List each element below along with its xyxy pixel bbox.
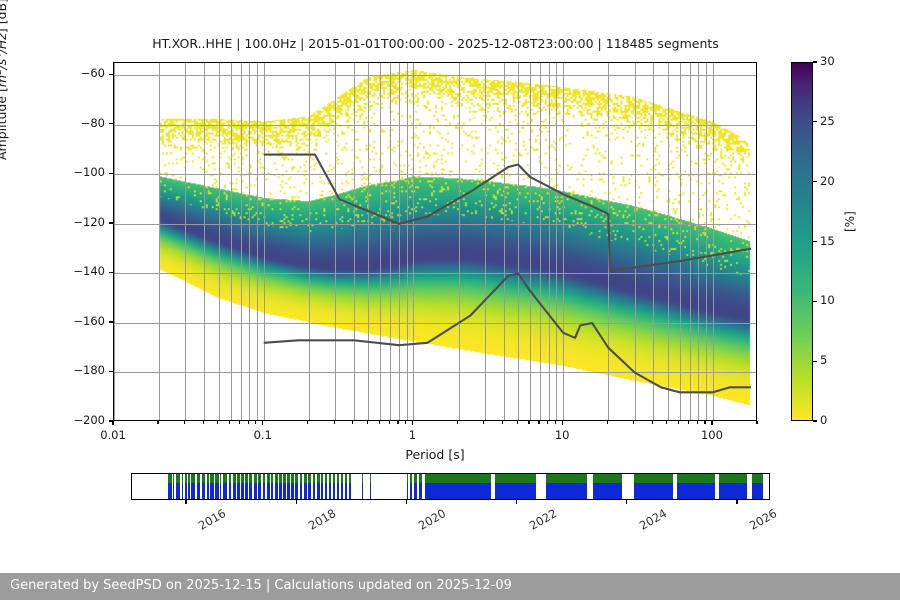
timeline-segment xyxy=(258,474,261,499)
timeline-segment xyxy=(304,474,307,499)
colorbar-unit-label: [%] xyxy=(843,211,857,232)
x-tick-mark xyxy=(457,421,458,424)
colorbar-tick-mark xyxy=(813,301,817,302)
x-tick-mark xyxy=(412,421,413,425)
y-tick-label: −60 xyxy=(57,66,105,80)
x-tick-mark xyxy=(397,421,398,424)
x-tick-mark xyxy=(607,421,608,424)
timeline-segment xyxy=(313,474,316,499)
x-tick-mark xyxy=(483,421,484,424)
footer-bar: Generated by SeedPSD on 2025-12-15 | Cal… xyxy=(0,573,900,600)
colorbar-tick-mark xyxy=(813,241,817,242)
timeline-segment xyxy=(410,474,413,499)
x-tick-mark xyxy=(307,421,308,424)
timeline-tick-label: 2018 xyxy=(306,506,338,533)
x-tick-mark xyxy=(711,421,712,425)
x-tick-mark xyxy=(547,421,548,424)
timeline-segment xyxy=(207,474,209,499)
timeline-segment xyxy=(593,474,622,499)
psd-figure: HT.XOR..HHE | 100.0Hz | 2015-01-01T00:00… xyxy=(0,0,900,600)
timeline-segment xyxy=(267,474,270,499)
timeline-segment xyxy=(283,474,285,499)
y-tick-label: −120 xyxy=(57,215,105,229)
timeline-segment xyxy=(329,474,331,499)
timeline-tick-label: 2022 xyxy=(527,506,559,533)
timeline-segment xyxy=(495,474,536,499)
colorbar-tick-mark xyxy=(813,121,817,122)
timeline-segment xyxy=(317,474,320,499)
timeline-tick-mark xyxy=(406,500,407,504)
timeline-segment xyxy=(295,474,298,499)
psd-plot-area[interactable] xyxy=(113,62,757,421)
timeline-segment xyxy=(188,474,190,499)
timeline-segment xyxy=(202,474,205,499)
timeline-segment xyxy=(677,474,715,499)
timeline-segment xyxy=(191,474,195,499)
y-tick-label: −100 xyxy=(57,165,105,179)
timeline-segment xyxy=(425,474,491,499)
timeline-segment xyxy=(185,474,187,499)
colorbar-tick-mark xyxy=(813,361,817,362)
colorbar-tick-mark xyxy=(813,181,817,182)
x-tick-mark xyxy=(528,421,529,424)
y-tick-mark xyxy=(109,173,113,174)
x-tick-mark xyxy=(756,421,757,424)
timeline-segment xyxy=(263,474,266,499)
timeline-segment xyxy=(279,474,281,499)
timeline-tick-label: 2020 xyxy=(416,506,448,533)
timeline-segment xyxy=(271,474,273,499)
x-tick-label: 1 xyxy=(382,428,442,442)
y-tick-label: −180 xyxy=(57,363,105,377)
timeline-tick-label: 2016 xyxy=(196,506,228,533)
timeline-segment xyxy=(254,474,257,499)
timeline-segment xyxy=(176,474,181,499)
y-tick-label: −200 xyxy=(57,413,105,427)
x-tick-mark xyxy=(517,421,518,424)
colorbar-tick-label: 10 xyxy=(820,293,835,307)
timeline-segment xyxy=(249,474,252,499)
colorbar-tick-label: 20 xyxy=(820,174,835,188)
timeline-segment xyxy=(210,474,214,499)
colorbar-tick-label: 25 xyxy=(820,114,835,128)
timeline-segment xyxy=(215,474,219,499)
timeline-segment xyxy=(197,474,201,499)
colorbar xyxy=(791,62,813,421)
timeline-segment xyxy=(325,474,327,499)
y-tick-label: −140 xyxy=(57,264,105,278)
page-title: HT.XOR..HHE | 100.0Hz | 2015-01-01T00:00… xyxy=(113,36,758,51)
timeline-segment xyxy=(245,474,247,499)
x-tick-mark xyxy=(538,421,539,424)
x-tick-mark xyxy=(229,421,230,424)
y-tick-mark xyxy=(109,74,113,75)
timeline-segment xyxy=(220,474,221,499)
noise-model-line xyxy=(264,155,751,271)
y-tick-mark xyxy=(109,321,113,322)
x-tick-mark xyxy=(555,421,556,424)
timeline-segment xyxy=(546,474,587,499)
timeline-tick-mark xyxy=(516,500,517,504)
timeline-segment xyxy=(321,474,323,499)
timeline-tick-mark xyxy=(185,500,186,504)
x-tick-mark xyxy=(678,421,679,424)
timeline-segment xyxy=(233,474,236,499)
colorbar-tick-mark xyxy=(813,420,817,421)
noise-model-lines xyxy=(114,63,757,421)
x-tick-mark xyxy=(262,421,263,425)
x-tick-label: 0.01 xyxy=(83,428,143,442)
timeline-segment xyxy=(237,474,239,499)
colorbar-tick-label: 0 xyxy=(820,413,827,427)
timeline-segment xyxy=(414,474,417,499)
x-tick-mark xyxy=(184,421,185,424)
x-tick-mark xyxy=(502,421,503,424)
x-tick-mark xyxy=(688,421,689,424)
timeline-segment xyxy=(752,474,762,499)
x-tick-label: 100 xyxy=(682,428,742,442)
timeline-segment xyxy=(241,474,244,499)
x-tick-mark xyxy=(704,421,705,424)
x-tick-mark xyxy=(389,421,390,424)
x-tick-mark xyxy=(405,421,406,424)
y-tick-mark xyxy=(109,272,113,273)
timeline-segment xyxy=(634,474,674,499)
x-axis-label: Period [s] xyxy=(113,447,757,462)
timeline-segment xyxy=(173,474,174,499)
x-tick-mark xyxy=(217,421,218,424)
colorbar-tick-mark xyxy=(813,61,817,62)
timeline-tick-mark xyxy=(296,500,297,504)
timeline-segment xyxy=(229,474,231,499)
x-tick-mark xyxy=(379,421,380,424)
timeline-segment xyxy=(308,474,311,499)
data-availability-timeline[interactable] xyxy=(131,473,770,500)
x-tick-mark xyxy=(652,421,653,424)
x-tick-mark xyxy=(255,421,256,424)
x-tick-mark xyxy=(112,421,113,425)
timeline-segment xyxy=(341,474,343,499)
y-tick-mark xyxy=(109,123,113,124)
timeline-segment xyxy=(362,474,363,499)
x-tick-mark xyxy=(633,421,634,424)
x-tick-mark xyxy=(334,421,335,424)
timeline-segment xyxy=(370,474,371,499)
timeline-tick-label: 2026 xyxy=(747,506,779,533)
timeline-segment xyxy=(333,474,335,499)
colorbar-tick-label: 15 xyxy=(820,234,835,248)
colorbar-tick-label: 30 xyxy=(820,54,835,68)
timeline-segment xyxy=(337,474,339,499)
x-tick-mark xyxy=(248,421,249,424)
x-tick-mark xyxy=(697,421,698,424)
y-tick-mark xyxy=(109,371,113,372)
x-tick-mark xyxy=(367,421,368,424)
timeline-segment xyxy=(419,474,422,499)
timeline-segment xyxy=(719,474,747,499)
timeline-tick-mark xyxy=(626,500,627,504)
x-tick-mark xyxy=(239,421,240,424)
timeline-segment xyxy=(407,474,408,499)
timeline-segment xyxy=(182,474,183,499)
timeline-segment xyxy=(345,474,347,499)
footer-text: Generated by SeedPSD on 2025-12-15 | Cal… xyxy=(10,578,512,593)
x-tick-mark xyxy=(666,421,667,424)
timeline-segment xyxy=(349,474,351,499)
y-tick-mark xyxy=(109,222,113,223)
x-tick-mark xyxy=(157,421,158,424)
timeline-tick-label: 2024 xyxy=(637,506,669,533)
y-tick-label: −80 xyxy=(57,116,105,130)
x-tick-label: 0.1 xyxy=(233,428,293,442)
noise-model-line xyxy=(264,273,751,392)
timeline-segment xyxy=(223,474,227,499)
timeline-segment xyxy=(275,474,278,499)
timeline-segment xyxy=(287,474,290,499)
x-tick-mark xyxy=(352,421,353,424)
timeline-segment xyxy=(300,474,303,499)
y-tick-label: −160 xyxy=(57,314,105,328)
timeline-tick-mark xyxy=(736,500,737,504)
x-tick-mark xyxy=(562,421,563,425)
x-tick-mark xyxy=(203,421,204,424)
y-axis-label: Amplitude [m2/s4/Hz] [dB] xyxy=(0,0,9,160)
timeline-segment xyxy=(291,474,294,499)
x-tick-label: 10 xyxy=(532,428,592,442)
timeline-segment xyxy=(168,474,172,499)
colorbar-tick-label: 5 xyxy=(820,353,827,367)
